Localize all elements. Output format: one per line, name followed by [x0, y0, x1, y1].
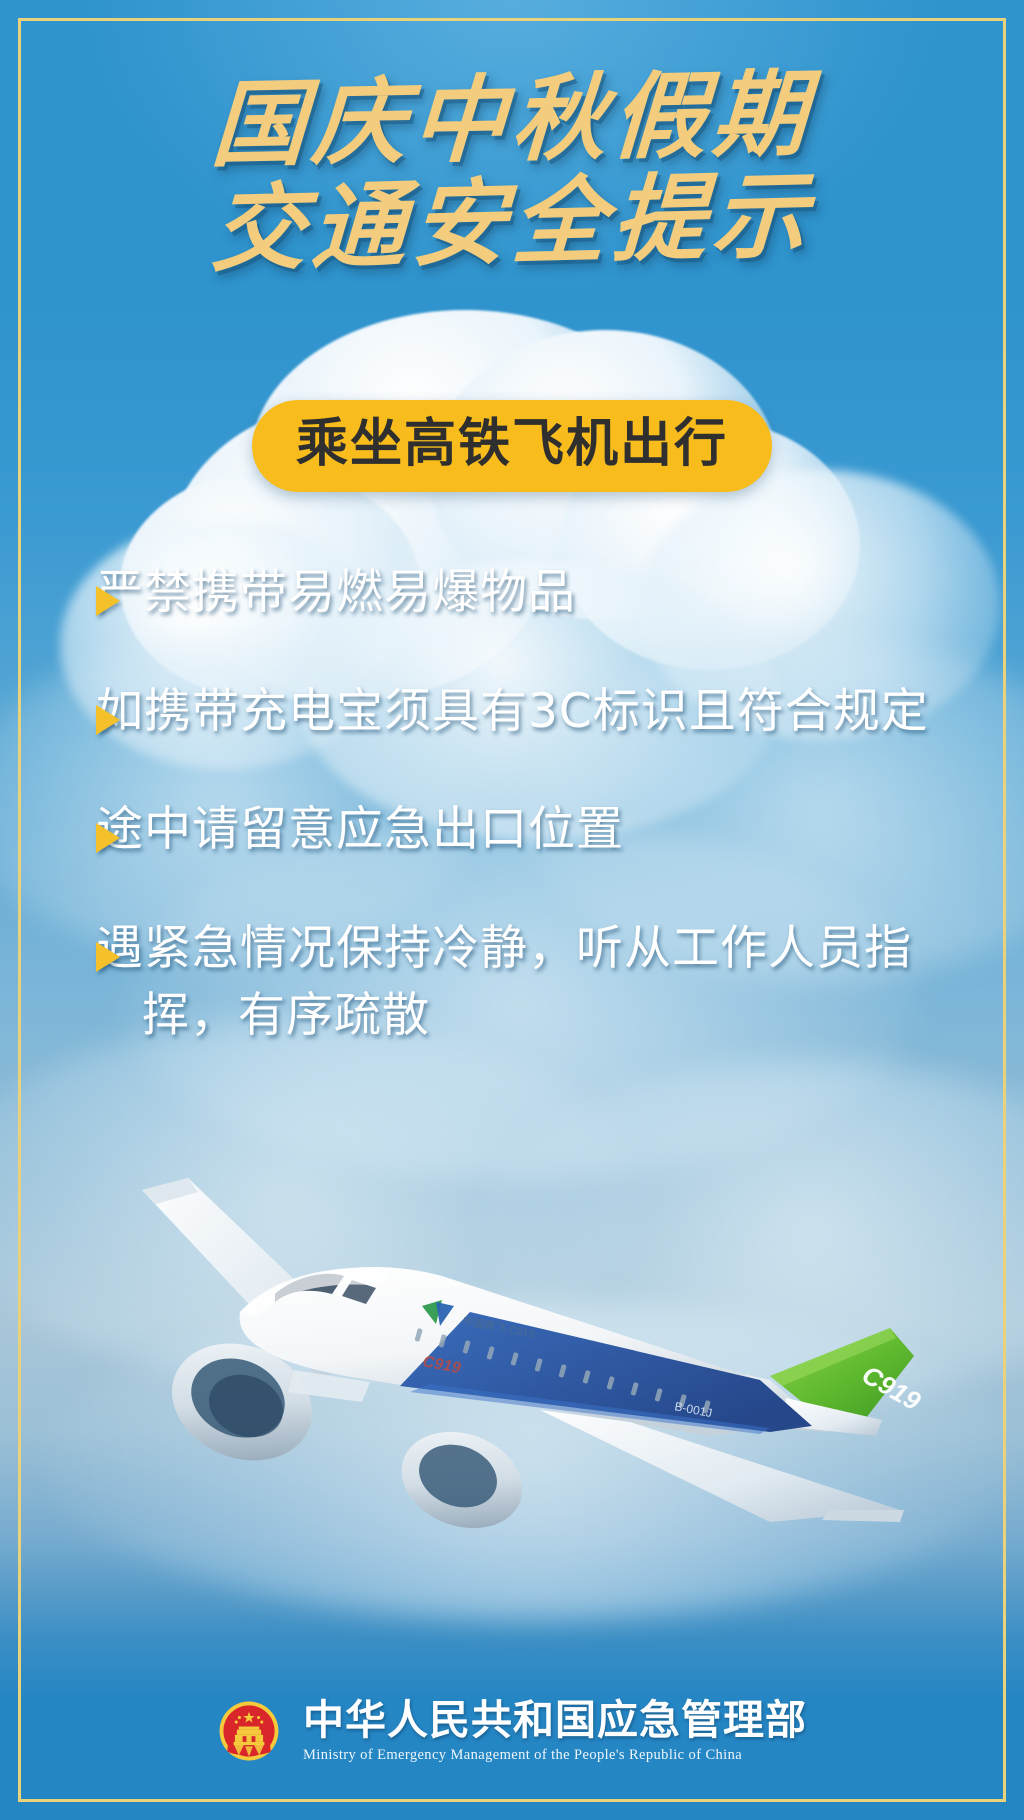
list-item-text: 严禁携带易燃易爆物品: [142, 560, 576, 627]
footer-organization-en: Ministry of Emergency Management of the …: [303, 1747, 807, 1764]
footer-text-block: 中华人民共和国应急管理部 Ministry of Emergency Manag…: [303, 1698, 807, 1764]
list-item-text: 途中请留意应急出口位置: [142, 797, 624, 864]
list-item-text: 如携带充电宝须具有3C标识且符合规定: [142, 679, 929, 746]
poster-title: 国庆中秋假期 交通安全提示: [0, 72, 1024, 272]
poster-root: C919: [0, 0, 1024, 1820]
title-line-1: 国庆中秋假期: [0, 62, 1024, 178]
list-item: 如携带充电宝须具有3C标识且符合规定: [96, 679, 972, 746]
triangle-bullet-icon: [96, 823, 120, 853]
list-item: 途中请留意应急出口位置: [96, 797, 972, 864]
section-badge-wrapper: 乘坐高铁飞机出行: [0, 400, 1024, 492]
triangle-bullet-icon: [96, 942, 120, 972]
national-emblem-icon: [217, 1699, 281, 1763]
section-badge-label: 乘坐高铁飞机出行: [296, 415, 728, 473]
footer-attribution: 中华人民共和国应急管理部 Ministry of Emergency Manag…: [0, 1698, 1024, 1764]
list-item: 遇紧急情况保持冷静，听从工作人员指挥，有序疏散: [96, 916, 972, 1049]
footer-organization-cn: 中华人民共和国应急管理部: [303, 1698, 807, 1742]
list-item-text: 遇紧急情况保持冷静，听从工作人员指挥，有序疏散: [142, 916, 972, 1049]
triangle-bullet-icon: [96, 705, 120, 735]
list-item: 严禁携带易燃易爆物品: [96, 560, 972, 627]
title-line-2: 交通安全提示: [0, 162, 1024, 284]
triangle-bullet-icon: [96, 586, 120, 616]
safety-tip-list: 严禁携带易燃易爆物品 如携带充电宝须具有3C标识且符合规定 途中请留意应急出口位…: [96, 560, 972, 1102]
section-badge: 乘坐高铁飞机出行: [252, 400, 772, 492]
